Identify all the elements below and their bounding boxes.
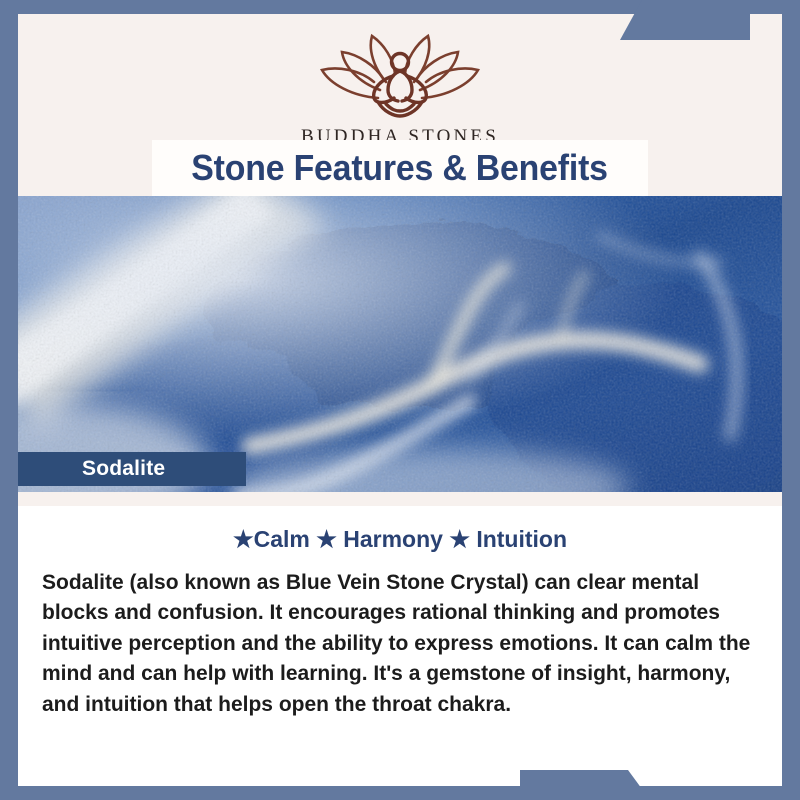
content-top-spacer: [18, 492, 782, 506]
content-bottom-spacer: [18, 742, 782, 786]
stone-photo: [0, 196, 800, 492]
content-area: ★Calm ★ Harmony ★ Intuition Sodalite (al…: [18, 492, 782, 742]
frame-left-edge-overlay: [0, 0, 18, 800]
stone-name: Sodalite: [18, 457, 165, 481]
stone-texture-graphic: [0, 196, 800, 492]
keyword-list: ★Calm ★ Harmony ★ Intuition: [18, 526, 782, 553]
corner-wedge-top-right-overlay: [620, 0, 750, 40]
lotus-meditation-figure-icon: [300, 26, 500, 126]
stone-name-tag: Sodalite: [18, 452, 246, 486]
brand-logo: [18, 26, 782, 126]
infographic-card: BUDDHA STONES Stone Features & Benefits: [0, 0, 800, 800]
page-title: Stone Features & Benefits: [192, 147, 609, 189]
frame-right-edge-overlay: [782, 0, 800, 800]
frame-bottom-edge-overlay: [0, 786, 800, 800]
title-panel: Stone Features & Benefits: [152, 140, 648, 196]
stone-description: Sodalite (also known as Blue Vein Stone …: [42, 568, 758, 720]
